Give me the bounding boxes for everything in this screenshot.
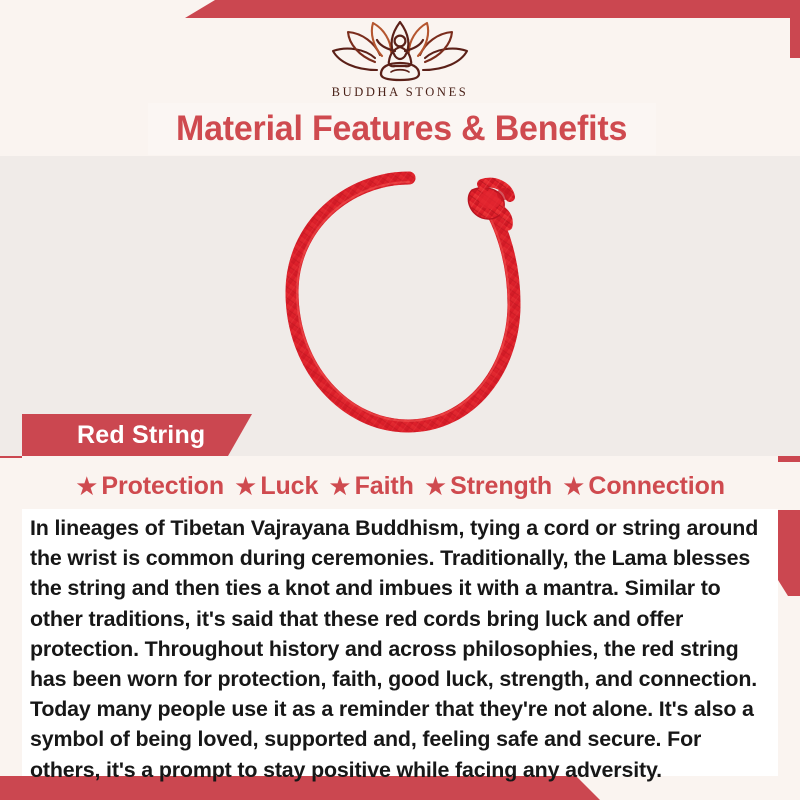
benefit-item-protection: ★ Protection [75,472,224,501]
benefit-label: Strength [450,472,552,501]
lotus-meditation-figure-icon [325,18,475,84]
benefit-item-strength: ★ Strength [424,472,552,501]
star-icon: ★ [562,473,585,499]
title-band: Material Features & Benefits [148,103,656,155]
benefit-item-connection: ★ Connection [562,472,725,501]
infographic-card: BUDDHA STONES Material Features & Benefi… [0,0,800,800]
star-icon: ★ [328,473,351,499]
benefit-item-luck: ★ Luck [234,472,318,501]
brand-logo: BUDDHA STONES [325,18,475,104]
benefit-item-faith: ★ Faith [328,472,414,501]
hero-image-panel [0,156,800,456]
red-string-bracelet-photo [276,164,536,449]
description-panel: In lineages of Tibetan Vajrayana Buddhis… [22,509,778,776]
page-title: Material Features & Benefits [176,109,627,149]
benefit-label: Faith [355,472,414,501]
product-name-label: Red String [22,421,205,450]
star-icon: ★ [75,473,98,499]
benefit-label: Protection [101,472,224,501]
product-name-ribbon: Red String [22,414,252,456]
brand-header: BUDDHA STONES [0,0,800,104]
star-icon: ★ [234,473,257,499]
star-icon: ★ [424,473,447,499]
brand-wordmark: BUDDHA STONES [332,85,469,100]
benefit-label: Luck [260,472,318,501]
description-paragraph: In lineages of Tibetan Vajrayana Buddhis… [22,509,778,785]
benefit-label: Connection [588,472,725,501]
benefits-row: ★ Protection ★ Luck ★ Faith ★ Strength ★… [0,462,800,510]
